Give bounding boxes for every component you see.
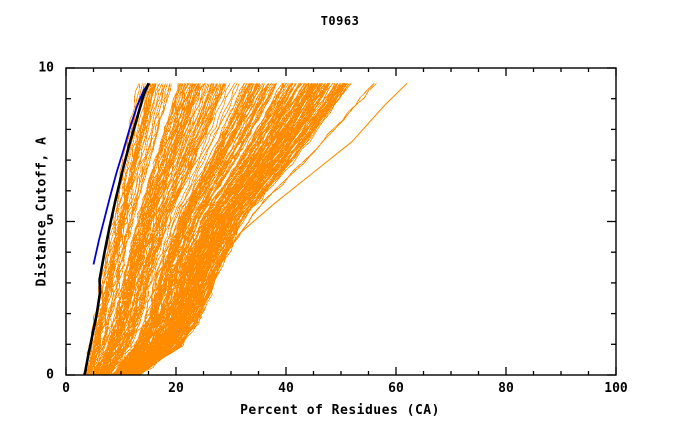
chart-figure: T0963 Distance Cutoff, A Percent of Resi… (0, 0, 680, 440)
model-curves-group (83, 83, 407, 375)
plot-area (0, 0, 680, 440)
